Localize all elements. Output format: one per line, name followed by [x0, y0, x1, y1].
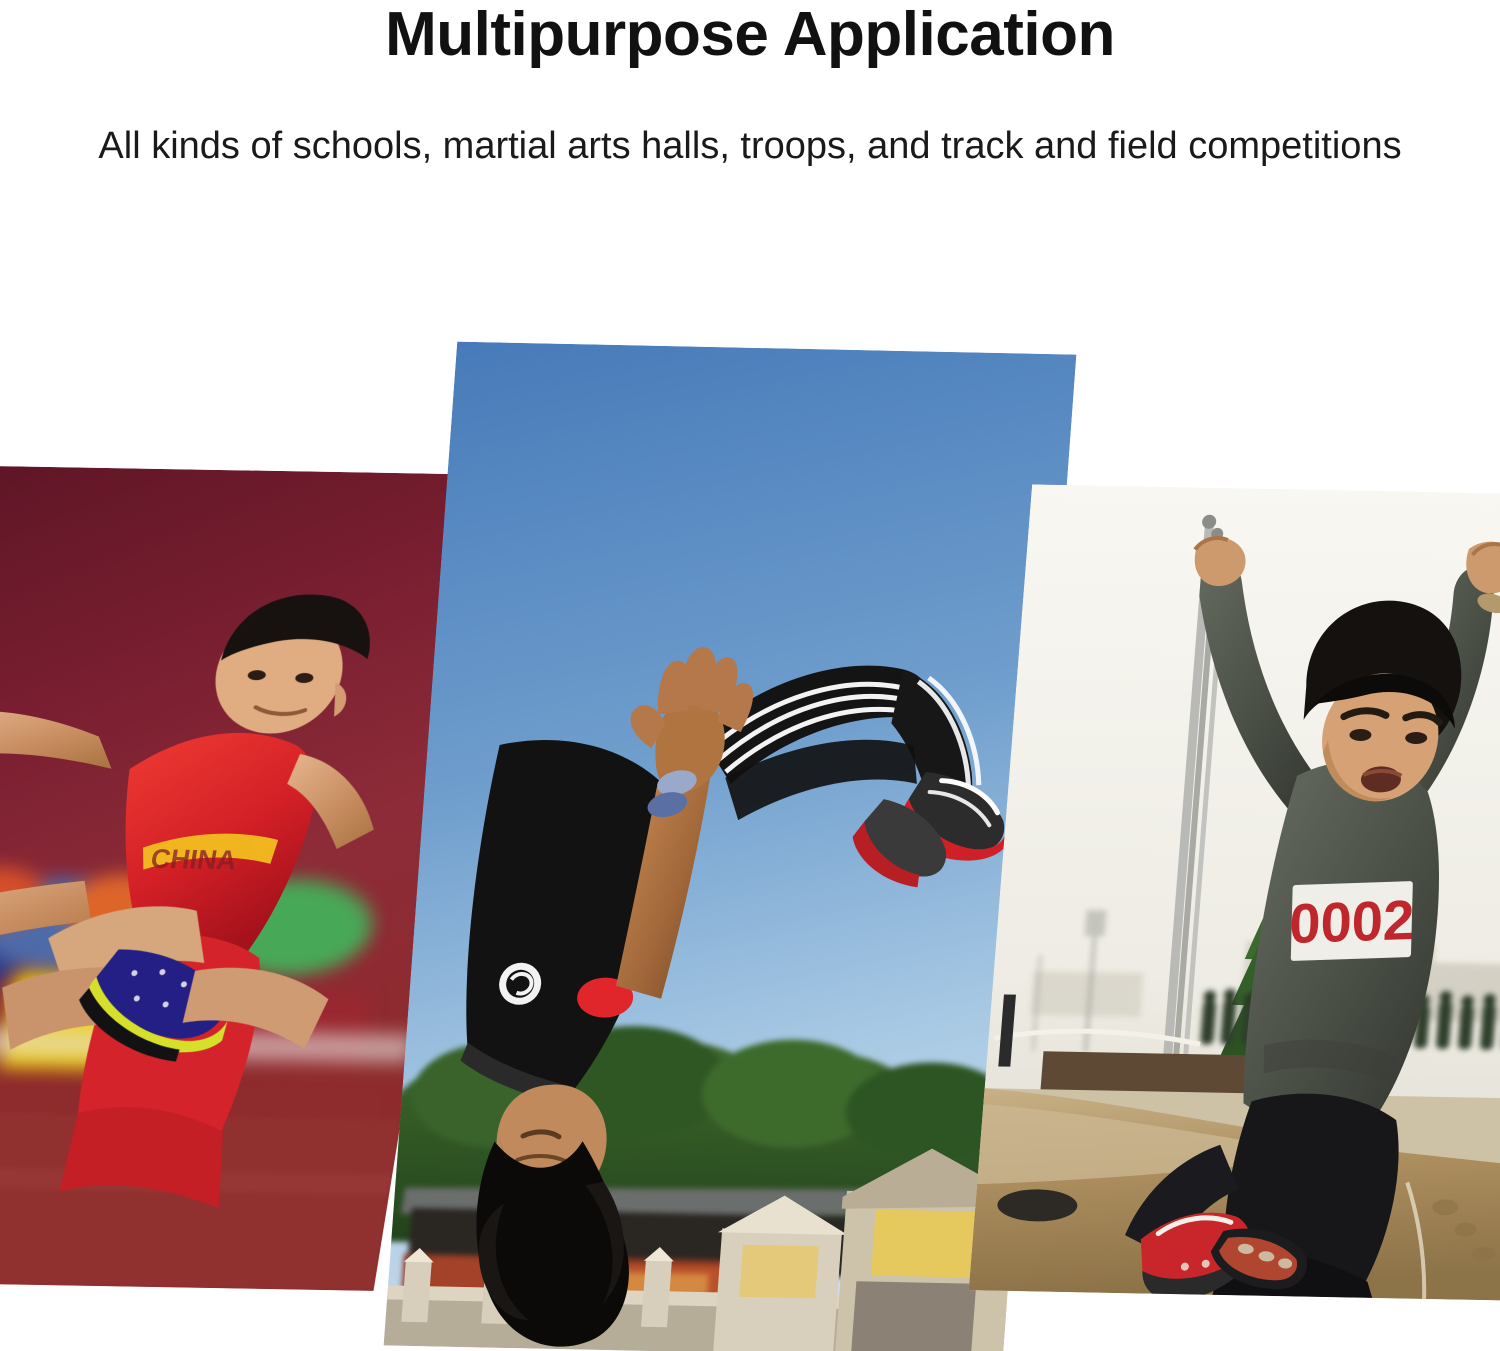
gallery-photo-long-jump-field-0002: 0002 [969, 484, 1500, 1301]
svg-text:CHINA: CHINA [149, 843, 239, 875]
race-bib-number: 0002 [1289, 888, 1415, 955]
page-subtitle: All kinds of schools, martial arts halls… [85, 118, 1415, 175]
photo-gallery: CHINA [0, 330, 1500, 1351]
long-jump-field-illustration: 0002 [969, 484, 1500, 1301]
backflip-illustration [384, 342, 1077, 1351]
promo-banner: Multipurpose Application All kinds of sc… [0, 0, 1500, 1351]
page-title: Multipurpose Application [0, 4, 1500, 66]
header: Multipurpose Application All kinds of sc… [0, 0, 1500, 175]
gallery-photo-backflip-blue-sky [384, 342, 1077, 1351]
